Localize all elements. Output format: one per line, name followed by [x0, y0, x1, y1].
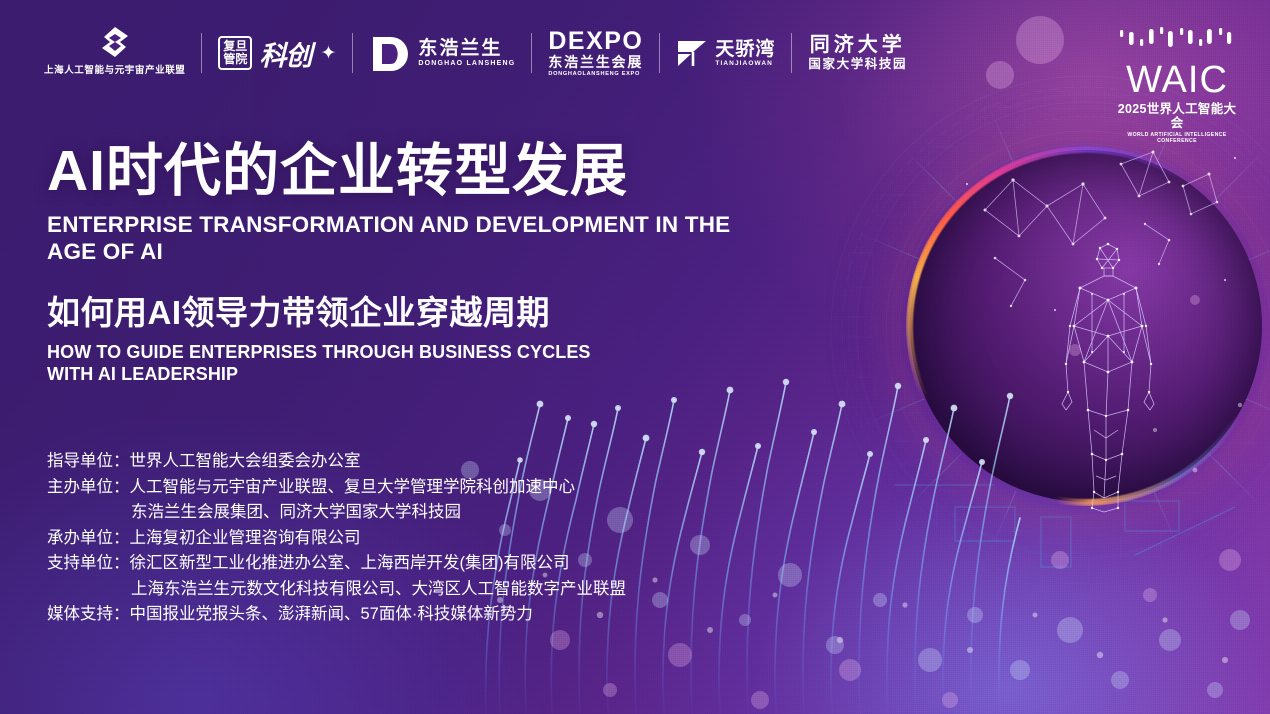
credit-value: 上海东浩兰生元数文化科技有限公司、大湾区人工智能数字产业联盟	[131, 577, 626, 603]
letter-d-mark-icon	[369, 33, 409, 73]
credit-value: 中国报业党报头条、澎湃新闻、57面体·科技媒体新势力	[130, 602, 533, 628]
logo-donghao-lansheng: 东浩兰生 DONGHAO LANSHENG	[353, 25, 531, 81]
waic-dots-pattern-icon	[1118, 26, 1236, 54]
credit-value: 徐汇区新型工业化推进办公室、上海西岸开发(集团)有限公司	[130, 551, 570, 577]
credit-label: 主办单位：	[47, 475, 130, 501]
credit-row: 承办单位：上海复初企业管理咨询有限公司	[47, 526, 626, 552]
credit-value: 上海复初企业管理咨询有限公司	[130, 526, 361, 552]
waic-cn-label: 2025世界人工智能大会	[1116, 102, 1238, 130]
credit-label: 指导单位：	[47, 449, 130, 475]
logo-tongji-science-park: 同济大学 国家大学科技园	[792, 25, 923, 81]
dexpo-cn-label: 东浩兰生会展	[548, 55, 643, 70]
tongji-cn-label: 同济大学	[810, 35, 906, 56]
dexpo-en-label: DONGHAOLANSHENG EXPO	[548, 71, 640, 77]
tongji-sub-label: 国家大学科技园	[808, 58, 907, 71]
fudan-char-3: 管	[223, 53, 235, 66]
waic-en-label: WORLD ARTIFICIAL INTELLIGENCE CONFERENCE	[1116, 132, 1238, 144]
logo-tianjiaowan: 天骄湾 TIANJIAOWAN	[660, 25, 791, 81]
diamond-ribbon-mark-icon	[98, 25, 132, 59]
credit-row: 媒体支持：中国报业党报头条、澎湃新闻、57面体·科技媒体新势力	[47, 602, 626, 628]
partner-logo-bar: 上海人工智能与元宇宙产业联盟 复 旦 管 院 科创 ✦	[28, 22, 923, 84]
waic-logo: WAIC 2025世界人工智能大会 WORLD ARTIFICIAL INTEL…	[1116, 26, 1238, 144]
page-subtitle-en: HOW TO GUIDE ENTERPRISES THROUGH BUSINES…	[47, 341, 607, 385]
fudan-fisf-box-icon: 复 旦 管 院	[218, 36, 252, 70]
waic-wordmark: WAIC	[1116, 61, 1238, 99]
poster-main-copy: AI时代的企业转型发展 ENTERPRISE TRANSFORMATION AN…	[47, 140, 767, 385]
page-title-en: ENTERPRISE TRANSFORMATION AND DEVELOPMEN…	[47, 211, 737, 265]
wireframe-human-figure-icon	[1048, 240, 1168, 515]
donghao-en-label: DONGHAO LANSHENG	[418, 60, 515, 67]
fudan-kechuang-calligraphy: 科创	[259, 34, 311, 73]
page-title-cn: AI时代的企业转型发展	[47, 140, 767, 202]
dexpo-wordmark: DEXPO	[548, 29, 643, 54]
logo-dexpo: DEXPO 东浩兰生会展 DONGHAOLANSHENG EXPO	[532, 25, 659, 81]
credit-value: 人工智能与元宇宙产业联盟、复旦大学管理学院科创加速中心	[130, 475, 576, 501]
credit-row: 指导单位：世界人工智能大会组委会办公室	[47, 449, 626, 475]
logo-fudan-kechuang: 复 旦 管 院 科创 ✦	[202, 25, 352, 81]
page-subtitle-cn: 如何用AI领导力带领企业穿越周期	[47, 294, 767, 332]
credit-label: 支持单位：	[47, 551, 130, 577]
credit-row: 主办单位：人工智能与元宇宙产业联盟、复旦大学管理学院科创加速中心	[47, 475, 626, 501]
fudan-char-4: 院	[235, 53, 247, 66]
sparkle-icon: ✦	[320, 42, 336, 65]
tianjiaowan-cn-label: 天骄湾	[715, 40, 775, 60]
donghao-cn-label: 东浩兰生	[418, 39, 515, 59]
credit-value: 东浩兰生会展集团、同济大学国家大学科技园	[131, 500, 461, 526]
credit-row: 支持单位：徐汇区新型工业化推进办公室、上海西岸开发(集团)有限公司	[47, 551, 626, 577]
credit-row: 东浩兰生会展集团、同济大学国家大学科技园	[47, 500, 626, 526]
credit-label: 承办单位：	[47, 526, 130, 552]
credit-label: 媒体支持：	[47, 602, 130, 628]
organizer-credits: 指导单位：世界人工智能大会组委会办公室主办单位：人工智能与元宇宙产业联盟、复旦大…	[47, 449, 626, 628]
waic-event-poster: 上海人工智能与元宇宙产业联盟 复 旦 管 院 科创 ✦	[0, 0, 1270, 714]
logo-shanghai-alliance-label: 上海人工智能与元宇宙产业联盟	[44, 62, 185, 76]
credit-row: 上海东浩兰生元数文化科技有限公司、大湾区人工智能数字产业联盟	[47, 577, 626, 603]
triangle-flag-mark-icon	[676, 38, 708, 68]
tianjiaowan-en-label: TIANJIAOWAN	[715, 60, 775, 67]
logo-shanghai-ai-metaverse-alliance: 上海人工智能与元宇宙产业联盟	[28, 25, 201, 81]
credit-value: 世界人工智能大会组委会办公室	[130, 449, 361, 475]
